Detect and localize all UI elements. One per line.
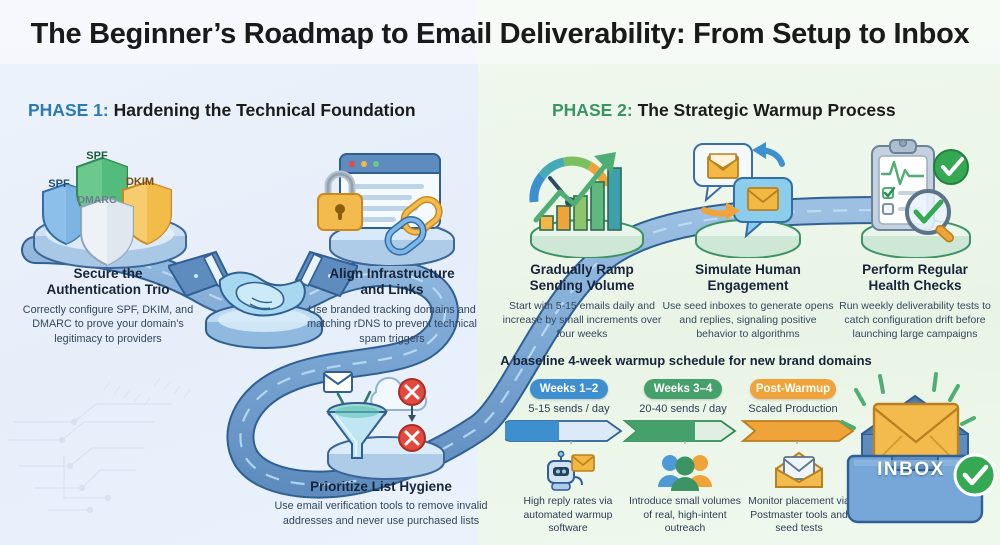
card-perform-regular-health-checks: Perform Regular Health Checks Run weekly… xyxy=(830,262,1000,341)
node-title: Align Infrastructure and Links xyxy=(294,266,490,299)
node-description: Correctly configure SPF, DKIM, and DMARC… xyxy=(8,303,208,346)
inbox-label: INBOX xyxy=(856,459,966,481)
card-title: Gradually Ramp Sending Volume xyxy=(500,262,664,295)
node-title-line2: Authentication Trio xyxy=(47,282,170,297)
node-secure-authentication-trio: Secure the Authentication Trio Correctly… xyxy=(8,266,208,346)
infographic-canvas: The Beginner’s Roadmap to Email Delivera… xyxy=(0,0,1000,545)
people-group-icon xyxy=(628,449,742,493)
schedule-bar-weeks-3-4 xyxy=(625,421,735,441)
schedule-label-weeks-1-2: 5-15 sends / day xyxy=(514,403,624,415)
card-title: Perform Regular Health Checks xyxy=(830,262,1000,295)
card-title: Simulate Human Engagement xyxy=(662,262,834,295)
mini-text: Introduce small volumes of real, high-in… xyxy=(628,495,742,536)
chat-bubbles-email-icon xyxy=(678,140,818,258)
page-title: The Beginner’s Roadmap to Email Delivera… xyxy=(0,18,1000,51)
shield-label-spf-green: SPF xyxy=(72,150,122,162)
card-gradually-ramp-sending-volume: Gradually Ramp Sending Volume Start with… xyxy=(500,262,664,341)
clipboard-health-check-icon xyxy=(846,138,986,258)
node-description: Use branded tracking domains and matchin… xyxy=(294,303,490,346)
schedule-progress-bars xyxy=(505,418,865,444)
node-title: Prioritize List Hygiene xyxy=(272,479,490,495)
card-title-line1: Simulate Human xyxy=(695,262,801,277)
node-title-line1: Secure the xyxy=(73,266,142,281)
card-title-line1: Gradually Ramp xyxy=(530,262,634,277)
node-description: Use email verification tools to remove i… xyxy=(272,499,490,528)
mini-introduce-small-volumes: Introduce small volumes of real, high-in… xyxy=(628,449,742,536)
schedule-bar-weeks-1-2 xyxy=(505,421,621,441)
card-simulate-human-engagement: Simulate Human Engagement Use seed inbox… xyxy=(662,262,834,341)
robot-email-icon xyxy=(512,449,624,493)
card-description: Start with 5-15 emails daily and increas… xyxy=(500,299,664,341)
shield-label-spf-blue: SPF xyxy=(36,178,82,190)
card-description: Use seed inboxes to generate opens and r… xyxy=(662,299,834,341)
schedule-title: A baseline 4-week warmup schedule for ne… xyxy=(496,353,876,368)
node-align-infrastructure-and-links: Align Infrastructure and Links Use brand… xyxy=(294,266,490,346)
shield-label-dmarc: DMARC xyxy=(66,194,128,206)
node-title-line1: Prioritize List Hygiene xyxy=(310,479,452,494)
shield-label-dkim: DKIM xyxy=(114,176,166,188)
node-title: Secure the Authentication Trio xyxy=(8,266,208,299)
browser-padlock-link-icon xyxy=(300,146,475,266)
schedule-pill-weeks-1-2: Weeks 1–2 xyxy=(530,379,608,399)
schedule-pill-weeks-3-4: Weeks 3–4 xyxy=(644,379,722,399)
card-description: Run weekly deliverability tests to catch… xyxy=(830,299,1000,341)
funnel-filter-icon xyxy=(300,368,480,480)
mini-high-reply-rates: High reply rates via automated warmup so… xyxy=(512,449,624,536)
schedule-label-post-warmup: Scaled Production xyxy=(740,403,846,415)
schedule-label-weeks-3-4: 20-40 sends / day xyxy=(628,403,738,415)
gauge-growth-chart-icon xyxy=(512,140,662,258)
schedule-bar-post-warmup xyxy=(743,421,853,441)
node-prioritize-list-hygiene: Prioritize List Hygiene Use email verifi… xyxy=(272,479,490,528)
card-title-line2: Engagement xyxy=(707,278,788,293)
card-title-line2: Health Checks xyxy=(868,278,961,293)
mini-text: High reply rates via automated warmup so… xyxy=(512,495,624,536)
node-title-line1: Align Infrastructure xyxy=(329,266,454,281)
schedule-pill-post-warmup: Post-Warmup xyxy=(750,379,836,399)
card-title-line1: Perform Regular xyxy=(862,262,968,277)
card-title-line2: Sending Volume xyxy=(530,278,635,293)
node-title-line2: and Links xyxy=(360,282,423,297)
check-badge-icon xyxy=(952,452,998,498)
